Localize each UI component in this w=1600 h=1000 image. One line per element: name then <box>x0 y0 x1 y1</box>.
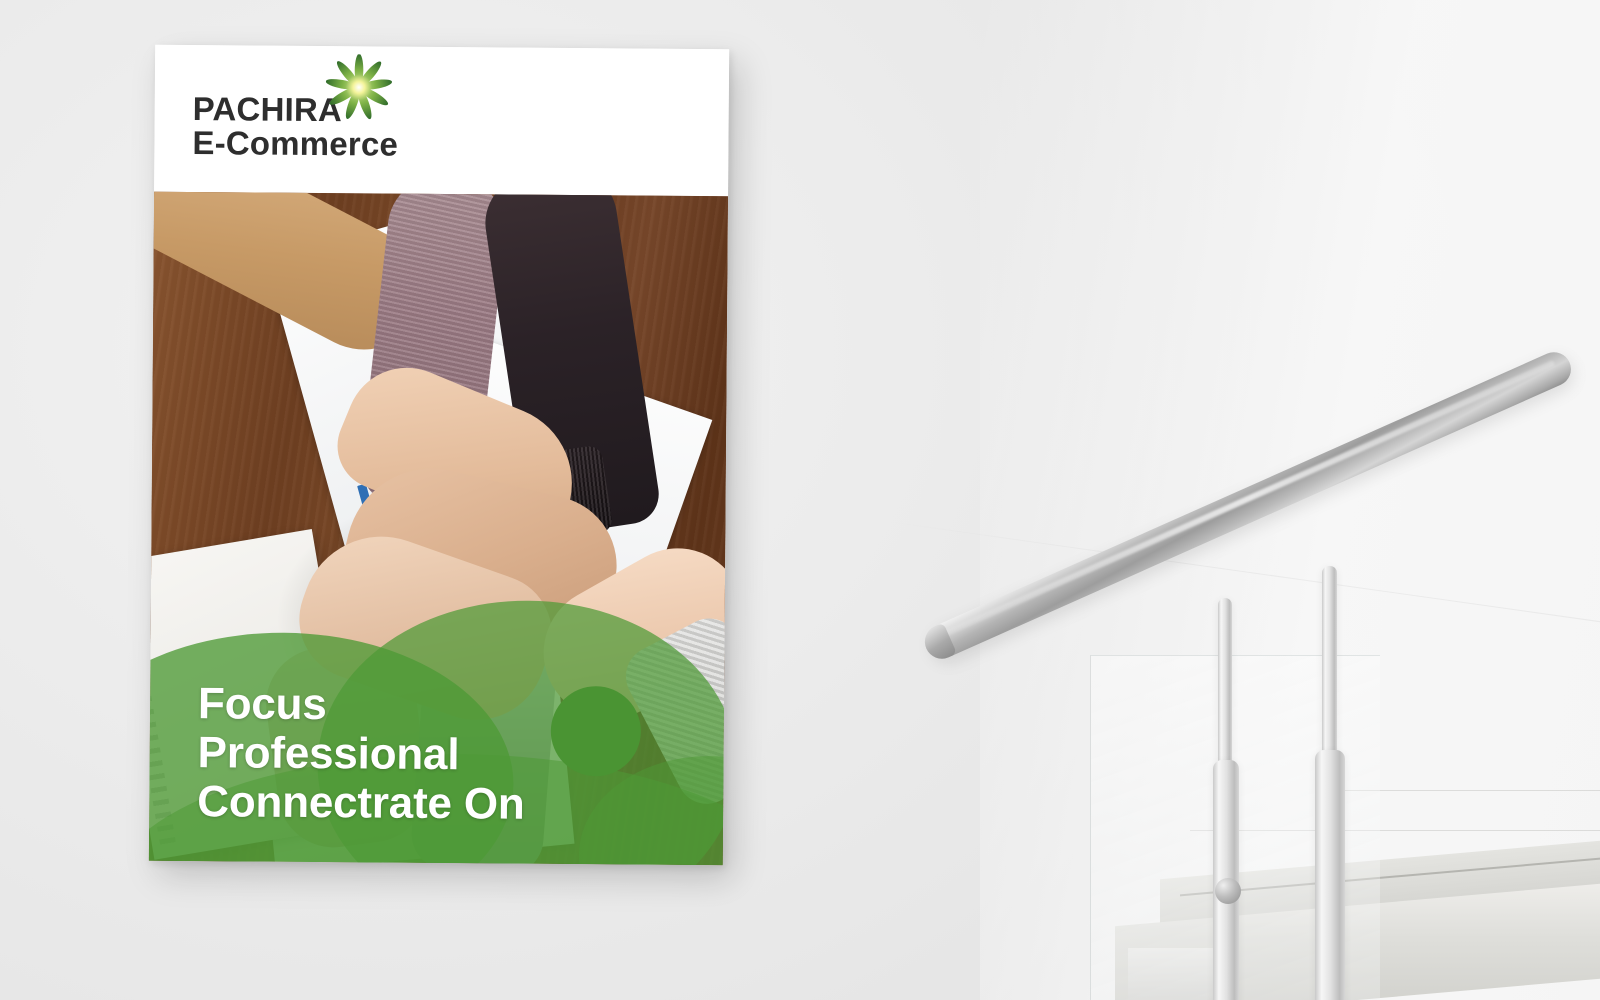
poster-card[interactable]: PACHIRA E-Commerce <box>149 45 729 865</box>
poster-headline: Focus Professional Connectrate On <box>197 679 525 829</box>
post-base-plate <box>1128 948 1224 1000</box>
flower-starburst-icon <box>326 54 393 121</box>
tile-grout-line <box>1190 830 1600 831</box>
tile-grout-line <box>1330 790 1600 791</box>
brand-lockup: PACHIRA E-Commerce <box>192 92 398 162</box>
green-solid-circle <box>550 686 641 777</box>
poster-photo: Focus Professional Connectrate On <box>149 192 728 865</box>
headline-line-2: Professional <box>197 728 525 780</box>
brand-name-line2: E-Commerce <box>192 126 398 162</box>
headline-line-1: Focus <box>198 679 526 731</box>
headline-line-3: Connectrate On <box>197 777 525 829</box>
poster-header-band: PACHIRA E-Commerce <box>154 45 729 197</box>
scene-root: PACHIRA E-Commerce <box>0 0 1600 1000</box>
